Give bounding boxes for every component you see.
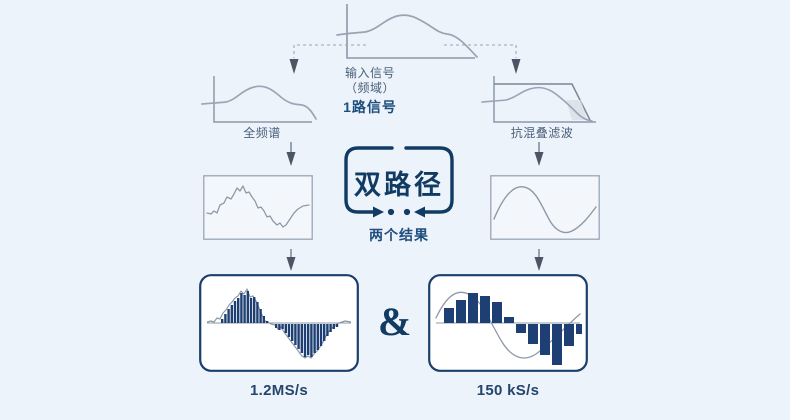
anti-alias-label: 抗混叠滤波 [482,126,602,141]
full-spectrum-label: 全频谱 [212,126,312,141]
arrow-to-noisy-waveform [282,142,300,168]
noisy-waveform-box [203,175,313,240]
sparse-result-rate: 150 kS/s [448,383,568,398]
diagram-canvas: 输入信号 （频域） 1路信号 全频谱 抗混 [0,0,790,420]
input-caption-line2: （频域） [310,81,430,96]
sine-waveform-box [490,175,600,240]
ampersand-separator: & [378,298,411,345]
badge-text: 双路径 [347,163,451,202]
arrow-to-sine-waveform [530,142,548,168]
arrow-to-sparse-result [530,249,548,273]
channel-label: 1路信号 [310,100,430,115]
results-label: 两个结果 [349,228,449,243]
dense-result-rate: 1.2MS/s [219,383,339,398]
arrow-to-dense-result [282,249,300,273]
dense-bar-histogram [199,274,359,372]
anti-alias-chart [480,74,605,130]
full-spectrum-chart [200,74,320,130]
sparse-bar-histogram [428,274,588,372]
